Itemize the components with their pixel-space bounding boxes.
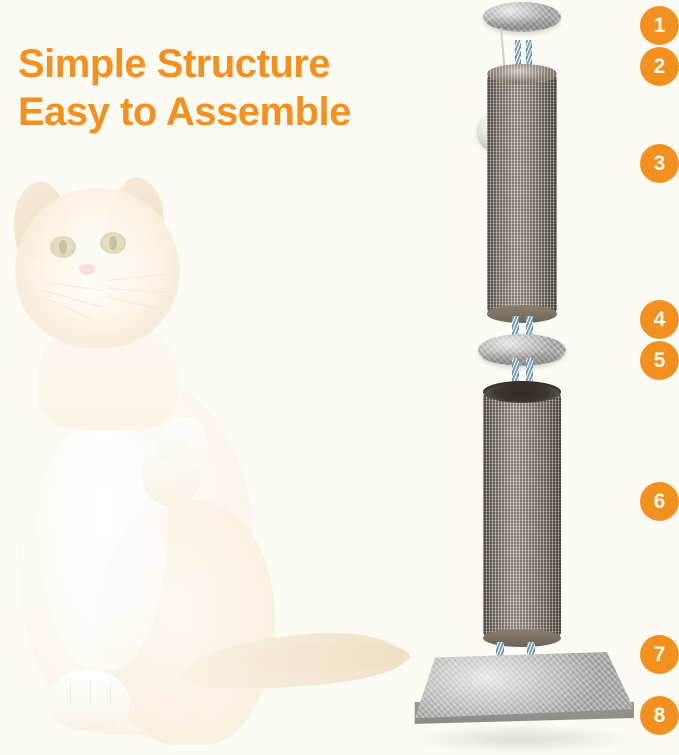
base-board-top-surface [408,652,634,744]
cat-pupil-right [109,236,117,250]
cat-pupil-left [59,240,67,254]
product-exploded-view [400,0,650,755]
upper-post-surface [487,74,557,314]
badge-2[interactable]: 2 [640,47,679,86]
badge-4[interactable]: 4 [640,300,679,339]
lower-post-hollow-opening [483,381,561,403]
cat-front-paw-resting [48,670,130,730]
title-line-1: Simple Structure [18,40,351,88]
badge-6[interactable]: 6 [640,482,679,521]
upper-sisal-post [487,74,557,314]
step-number-badges: 1 2 3 4 5 6 7 8 [640,0,679,755]
badge-1[interactable]: 1 [640,6,679,45]
badge-5[interactable]: 5 [640,341,679,380]
cat-toe-line [90,680,91,702]
badge-8[interactable]: 8 [640,696,679,735]
badge-7[interactable]: 7 [640,635,679,674]
badge-3[interactable]: 3 [640,144,679,183]
cat-illustration [0,170,410,755]
top-plush-disc-shadow [487,16,557,30]
cat-muzzle [52,268,130,320]
lower-post-bottom-cap [483,629,561,647]
upper-post-top-cap [487,64,557,84]
plush-base-board [408,652,634,744]
cat-toe-line [110,683,111,705]
title-line-2: Easy to Assemble [18,88,351,136]
upper-post-bottom-cap [487,305,557,323]
cat-toe-line [70,682,71,704]
mid-plush-disc-shadow [482,350,562,365]
lower-sisal-post [483,392,561,638]
lower-post-surface [483,392,561,638]
page-title: Simple Structure Easy to Assemble [18,40,351,136]
infographic-canvas: Simple Structure Easy to Assemble [0,0,679,755]
